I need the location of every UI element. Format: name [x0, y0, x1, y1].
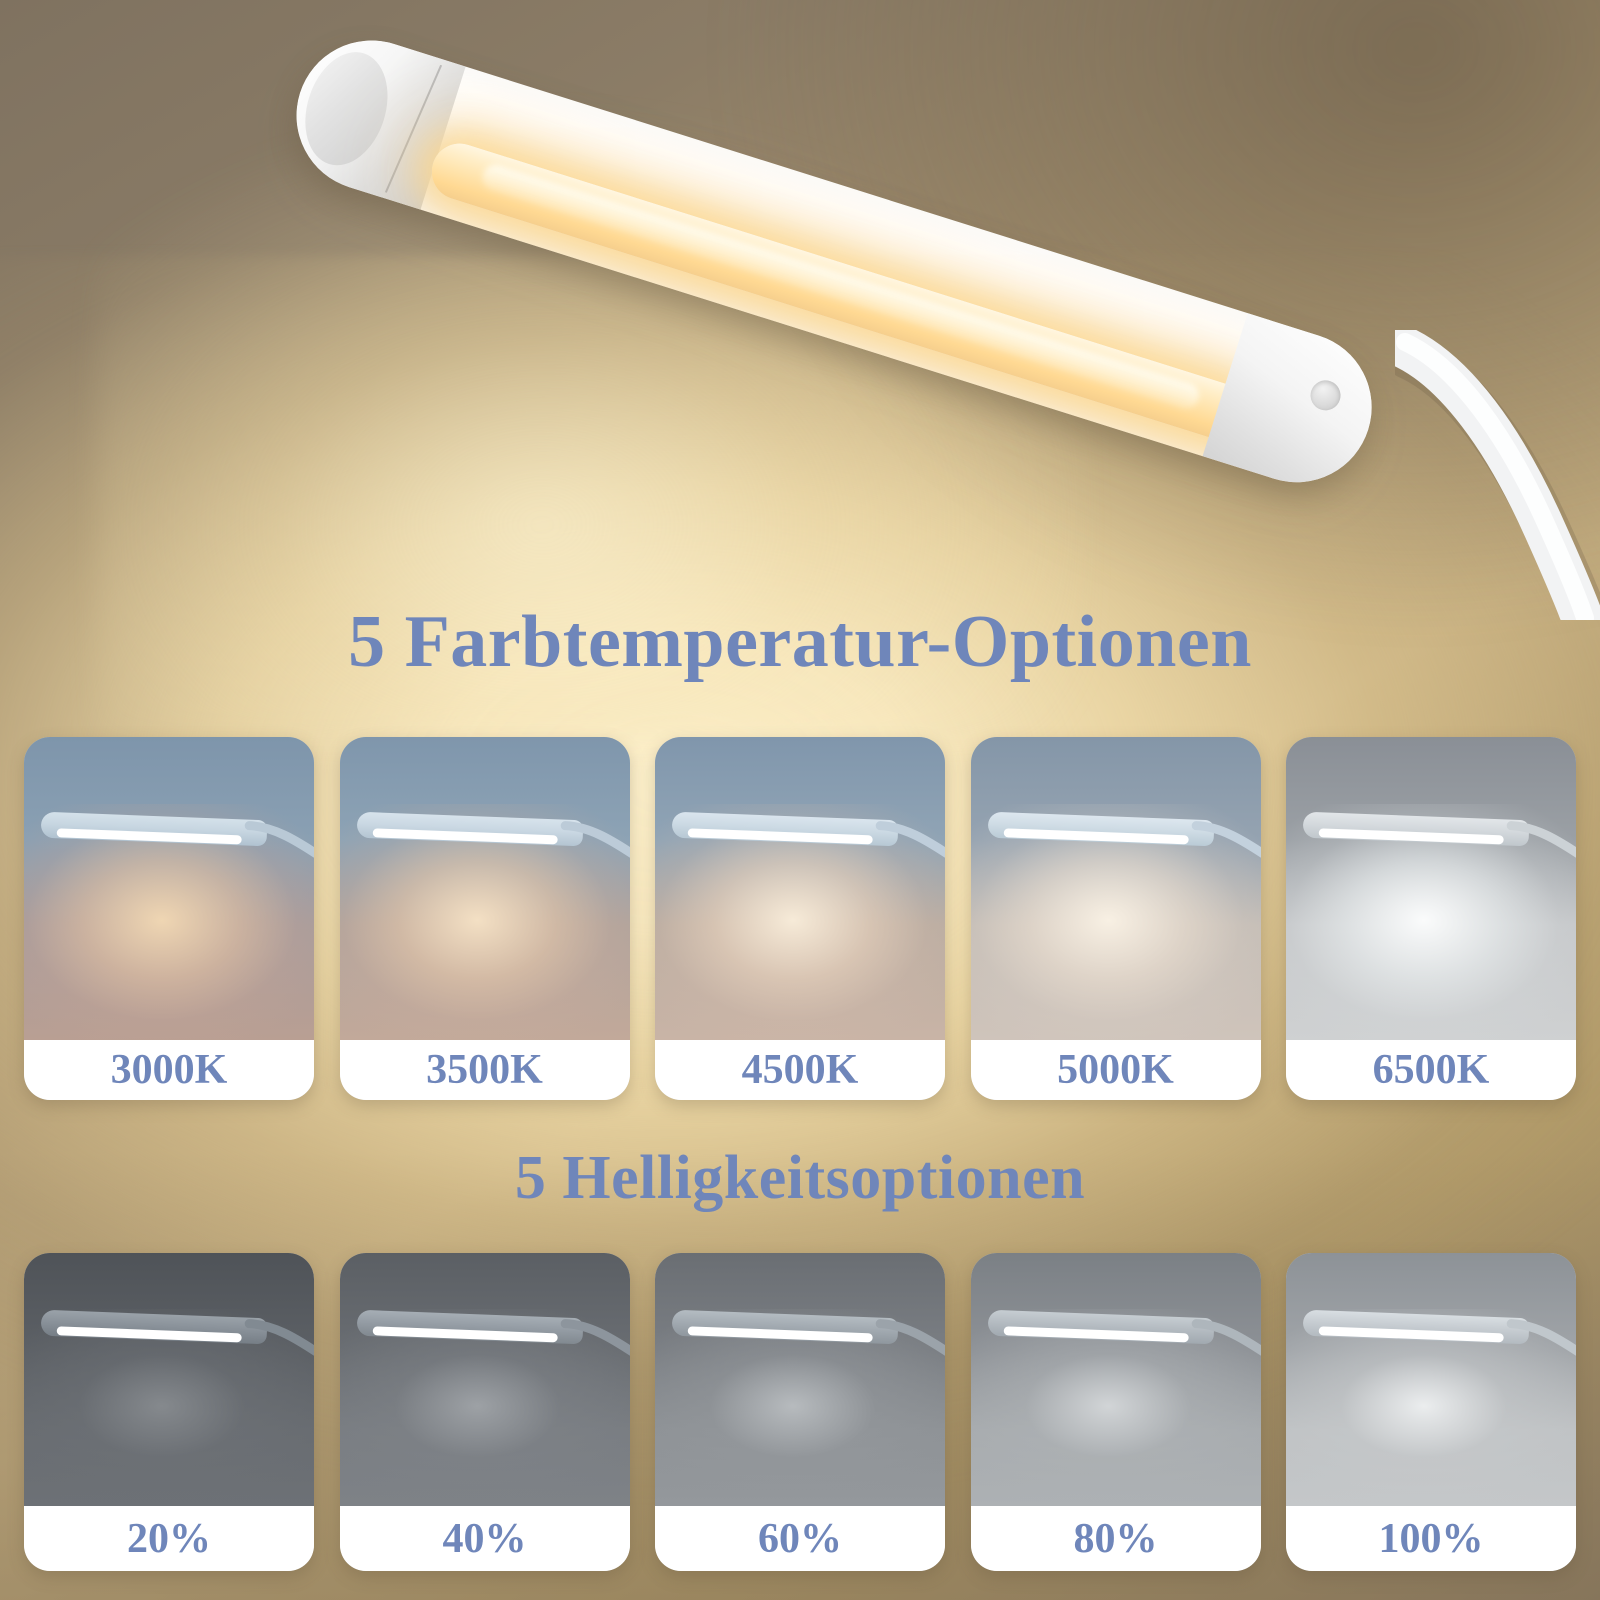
card-mini-lamp-arm — [562, 821, 622, 857]
brightness-card-row: 20% 40% — [24, 1253, 1576, 1571]
brightness-card[interactable]: 20% — [24, 1253, 314, 1571]
card-caption: 100% — [1286, 1506, 1576, 1571]
card-label: 3000K — [111, 1046, 228, 1094]
section-title-brightness: 5 Helligkeitsoptionen — [0, 1143, 1600, 1214]
card-label: 5000K — [1057, 1046, 1174, 1094]
brightness-card[interactable]: 100% — [1286, 1253, 1576, 1571]
card-caption: 3500K — [340, 1040, 630, 1100]
card-scene — [1286, 1253, 1576, 1506]
card-mini-lamp-arm — [1508, 821, 1568, 857]
card-scene — [971, 737, 1261, 1040]
card-mini-lamp-arm — [1193, 821, 1253, 857]
card-mini-lamp-arm — [877, 821, 937, 857]
card-label: 20% — [127, 1515, 211, 1563]
brightness-card[interactable]: 60% — [655, 1253, 945, 1571]
gooseneck-arm — [1395, 330, 1600, 620]
card-caption: 20% — [24, 1506, 314, 1571]
card-scene — [971, 1253, 1261, 1506]
card-label: 60% — [758, 1515, 842, 1563]
card-mini-lamp-arm — [562, 1319, 622, 1355]
color-temperature-card[interactable]: 5000K — [971, 737, 1261, 1100]
card-caption: 6500K — [1286, 1040, 1576, 1100]
color-temperature-card[interactable]: 4500K — [655, 737, 945, 1100]
card-scene — [340, 737, 630, 1040]
card-mini-lamp-arm — [877, 1319, 937, 1355]
card-mini-lamp-arm — [1508, 1319, 1568, 1355]
card-mini-lamp-arm — [246, 821, 306, 857]
product-infographic: 5 Farbtemperatur-Optionen 3000K — [0, 0, 1600, 1600]
card-label: 40% — [443, 1515, 527, 1563]
card-mini-lamp-arm — [246, 1319, 306, 1355]
brightness-card[interactable]: 80% — [971, 1253, 1261, 1571]
card-scene — [24, 737, 314, 1040]
card-scene — [340, 1253, 630, 1506]
color-temperature-card[interactable]: 6500K — [1286, 737, 1576, 1100]
card-caption: 80% — [971, 1506, 1261, 1571]
card-caption: 60% — [655, 1506, 945, 1571]
hero-lamp-pivot-knob — [1307, 377, 1345, 415]
card-caption: 4500K — [655, 1040, 945, 1100]
card-label: 80% — [1074, 1515, 1158, 1563]
card-label: 3500K — [426, 1046, 543, 1094]
card-scene — [1286, 737, 1576, 1040]
color-temperature-card[interactable]: 3000K — [24, 737, 314, 1100]
color-temperature-card[interactable]: 3500K — [340, 737, 630, 1100]
card-caption: 40% — [340, 1506, 630, 1571]
card-label: 4500K — [742, 1046, 859, 1094]
card-caption: 3000K — [24, 1040, 314, 1100]
card-caption: 5000K — [971, 1040, 1261, 1100]
card-label: 100% — [1379, 1515, 1484, 1563]
section-title-color-temperature: 5 Farbtemperatur-Optionen — [0, 600, 1600, 685]
card-scene — [655, 1253, 945, 1506]
card-label: 6500K — [1373, 1046, 1490, 1094]
card-scene — [24, 1253, 314, 1506]
card-scene — [655, 737, 945, 1040]
color-temperature-card-row: 3000K 3500K — [24, 737, 1576, 1100]
brightness-card[interactable]: 40% — [340, 1253, 630, 1571]
card-mini-lamp-arm — [1193, 1319, 1253, 1355]
